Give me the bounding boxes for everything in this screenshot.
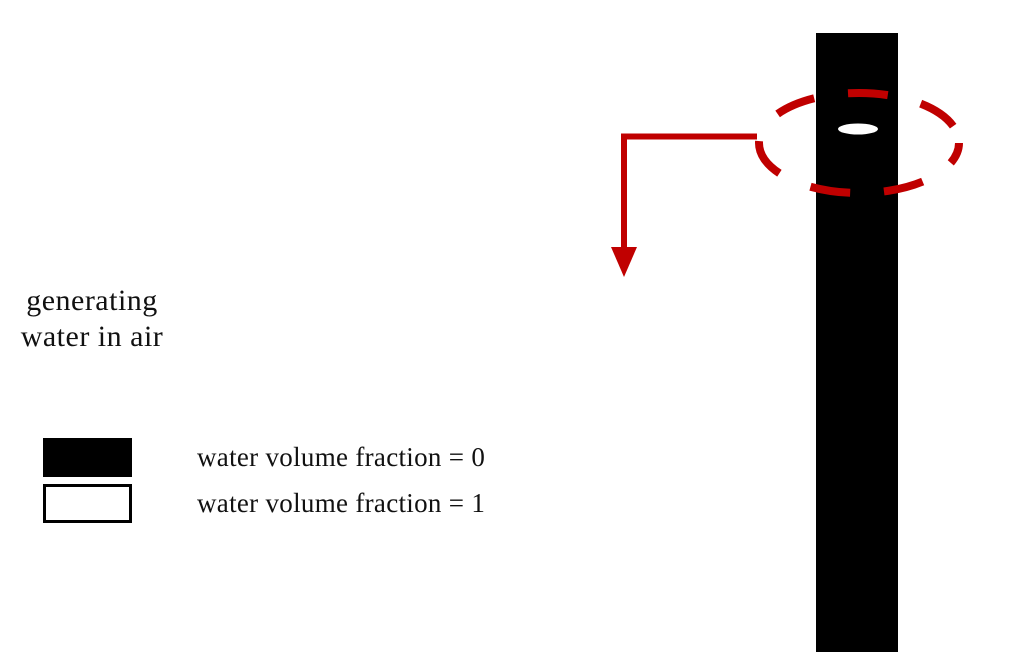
- callout-arrow-line: [624, 137, 757, 249]
- legend-label-0: water volume fraction = 0: [197, 442, 485, 472]
- legend-item-1: water volume fraction = 1: [43, 480, 743, 526]
- callout-label-line-1: generating: [0, 283, 602, 319]
- legend-swatch-black: [43, 438, 132, 477]
- callout-label: generating water in air: [0, 283, 602, 355]
- callout-arrowhead: [611, 247, 637, 277]
- legend-item-0: water volume fraction = 0: [43, 434, 743, 480]
- legend: water volume fraction = 0 water volume f…: [43, 434, 743, 526]
- figure-canvas: generating water in air water volume fra…: [0, 0, 1020, 664]
- water-droplet-icon: [838, 124, 878, 135]
- legend-swatch-white: [43, 484, 132, 523]
- callout-arrow: [611, 137, 757, 278]
- legend-label-1: water volume fraction = 1: [197, 488, 485, 518]
- callout-label-line-2: water in air: [0, 319, 602, 355]
